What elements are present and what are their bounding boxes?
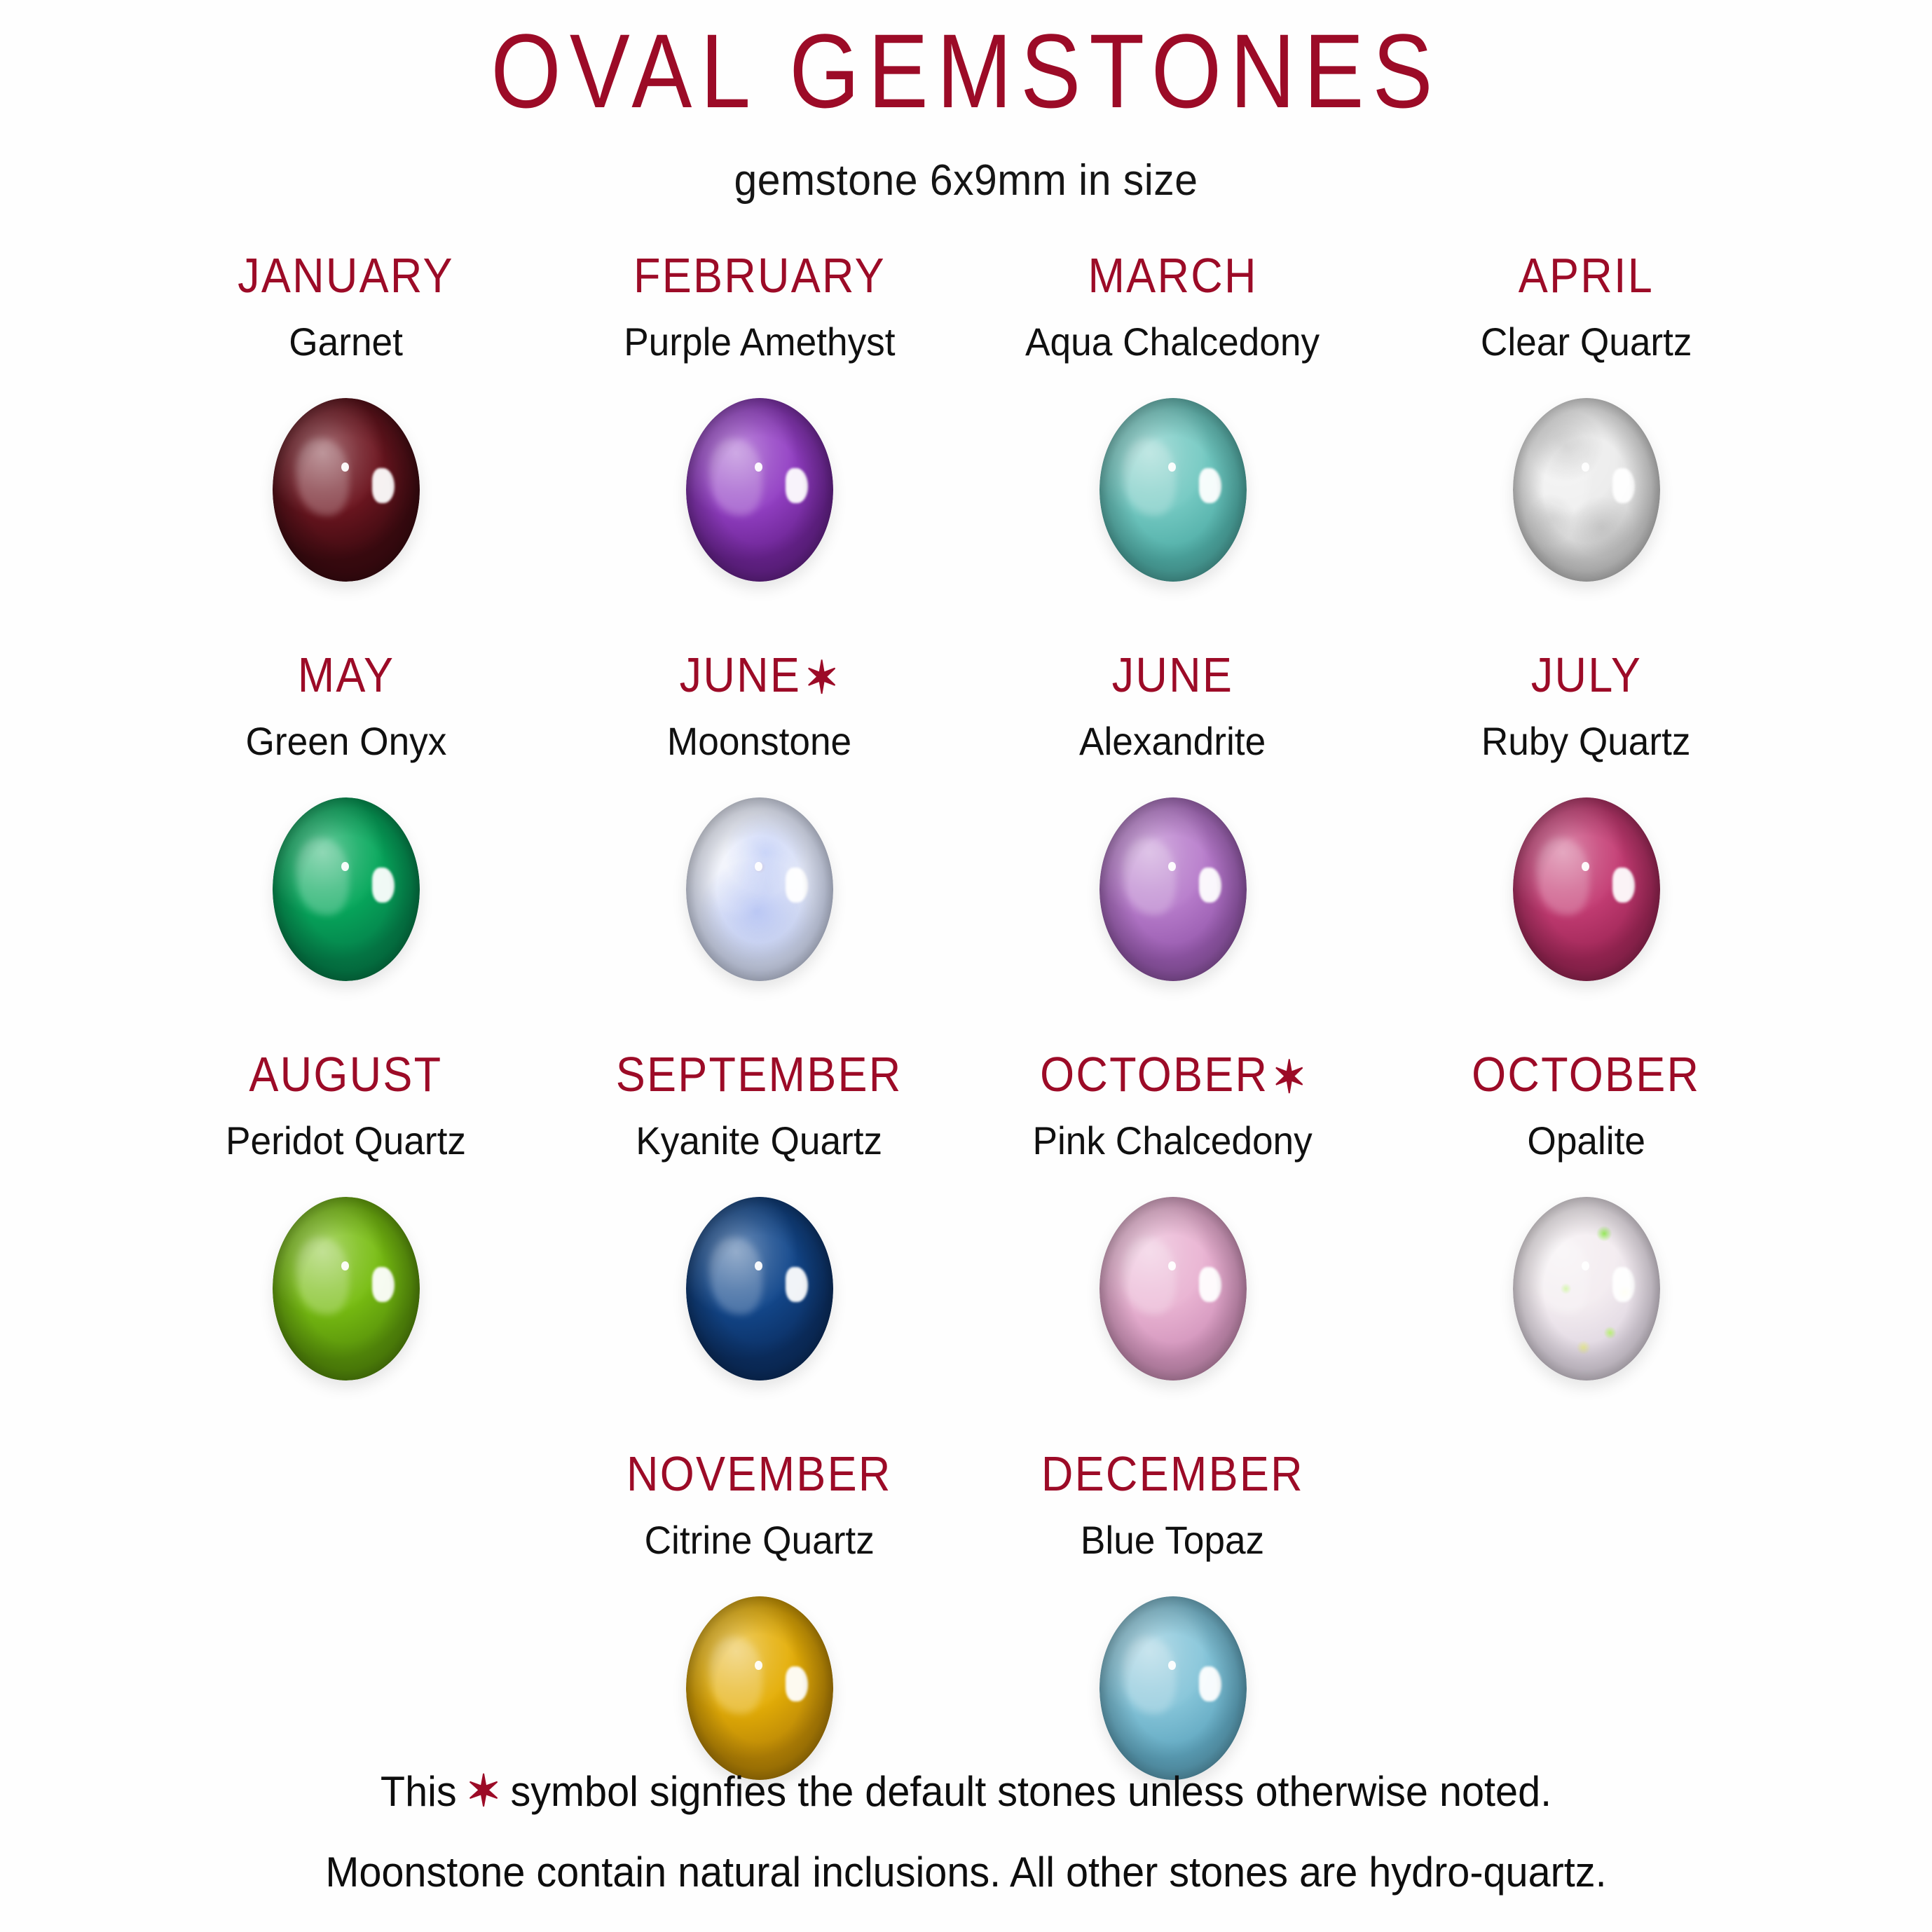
- stone-name-label: Blue Topaz: [1081, 1521, 1264, 1560]
- month-label: JANUARY: [238, 251, 454, 300]
- gem-image-wrap: [686, 398, 833, 582]
- gem-rim-layer: [686, 1197, 833, 1381]
- gem-rim-layer: [273, 1197, 420, 1381]
- stone-name-label: Purple Amethyst: [624, 322, 895, 362]
- gem-image-wrap: [1513, 797, 1660, 981]
- month-name: OCTOBER: [1040, 1047, 1268, 1102]
- purple-amethyst-gem: [686, 398, 833, 582]
- month-name: JANUARY: [238, 248, 454, 303]
- gemstone-cell[interactable]: MARCHAqua Chalcedony: [966, 251, 1380, 582]
- gemstone-cell[interactable]: JANUARYGarnet: [139, 251, 553, 582]
- gem-rim-layer: [1099, 797, 1247, 981]
- footer-line-1: This✶symbol signfies the default stones …: [39, 1767, 1893, 1816]
- footer-text-before: This: [381, 1768, 457, 1815]
- kyanite-quartz-gem: [686, 1197, 833, 1381]
- gem-rim-layer: [1099, 398, 1247, 582]
- gemstone-cell[interactable]: DECEMBERBlue Topaz: [966, 1449, 1380, 1780]
- clear-quartz-gem: [1513, 398, 1660, 582]
- stone-name-label: Clear Quartz: [1481, 322, 1692, 362]
- gemstone-row: MAYGreen OnyxJUNE✶MoonstoneJUNEAlexandri…: [0, 650, 1932, 1050]
- gem-rim-layer: [686, 1596, 833, 1780]
- stone-name-label: Citrine Quartz: [644, 1521, 874, 1560]
- stone-name-label: Alexandrite: [1079, 722, 1266, 761]
- gemstone-row: JANUARYGarnetFEBRUARYPurple AmethystMARC…: [0, 251, 1932, 650]
- month-label: DECEMBER: [1041, 1449, 1304, 1498]
- month-label: MARCH: [1088, 251, 1257, 300]
- peridot-quartz-gem: [273, 1197, 420, 1381]
- month-label: OCTOBER: [1472, 1050, 1700, 1099]
- gem-rim-layer: [1099, 1596, 1247, 1780]
- gem-rim-layer: [273, 398, 420, 582]
- month-name: MARCH: [1088, 248, 1257, 303]
- stone-name-label: Aqua Chalcedony: [1026, 322, 1320, 362]
- gem-rim-layer: [686, 398, 833, 582]
- gemstone-cell[interactable]: MAYGreen Onyx: [139, 650, 553, 981]
- stone-name-label: Peridot Quartz: [226, 1121, 466, 1160]
- page-title: OVAL GEMSTONES: [135, 18, 1797, 123]
- gem-rim-layer: [1513, 398, 1660, 582]
- gem-image-wrap: [273, 398, 420, 582]
- stone-name-label: Pink Chalcedony: [1033, 1121, 1313, 1160]
- moonstone-gem: [686, 797, 833, 981]
- gem-rim-layer: [686, 797, 833, 981]
- citrine-quartz-gem: [686, 1596, 833, 1780]
- month-name: OCTOBER: [1472, 1047, 1700, 1102]
- gem-image-wrap: [273, 797, 420, 981]
- gem-rim-layer: [1513, 1197, 1660, 1381]
- gem-image-wrap: [273, 1197, 420, 1381]
- aqua-chalcedony-gem: [1099, 398, 1247, 582]
- gemstone-chart-page: OVAL GEMSTONES gemstone 6x9mm in size JA…: [0, 0, 1932, 1932]
- month-label: JULY: [1530, 650, 1641, 699]
- stone-name-label: Opalite: [1527, 1121, 1645, 1160]
- month-name: NOVEMBER: [626, 1446, 892, 1501]
- asterisk-icon: ✶: [1272, 1052, 1306, 1102]
- gem-rim-layer: [1099, 1197, 1247, 1381]
- gem-image-wrap: [1099, 1596, 1247, 1780]
- chart-header: OVAL GEMSTONES gemstone 6x9mm in size: [0, 0, 1932, 205]
- stone-name-label: Moonstone: [667, 722, 851, 761]
- month-name: DECEMBER: [1041, 1446, 1304, 1501]
- alexandrite-gem: [1099, 797, 1247, 981]
- month-label: JUNE: [1112, 650, 1234, 699]
- gem-image-wrap: [1099, 398, 1247, 582]
- gemstone-row: NOVEMBERCitrine QuartzDECEMBERBlue Topaz: [0, 1449, 1932, 1814]
- gemstone-cell[interactable]: FEBRUARYPurple Amethyst: [553, 251, 966, 582]
- month-label: OCTOBER✶: [1040, 1050, 1306, 1099]
- month-name: FEBRUARY: [633, 248, 886, 303]
- gemstone-grid: JANUARYGarnetFEBRUARYPurple AmethystMARC…: [0, 251, 1932, 1814]
- gemstone-cell[interactable]: AUGUSTPeridot Quartz: [139, 1050, 553, 1381]
- month-label: AUGUST: [249, 1050, 442, 1099]
- stone-name-label: Green Onyx: [245, 722, 446, 761]
- gemstone-cell[interactable]: JUNE✶Moonstone: [553, 650, 966, 981]
- gem-image-wrap: [686, 797, 833, 981]
- stone-name-label: Garnet: [289, 322, 403, 362]
- opalite-gem: [1513, 1197, 1660, 1381]
- stone-name-label: Kyanite Quartz: [636, 1121, 883, 1160]
- month-name: SEPTEMBER: [616, 1047, 903, 1102]
- footer-line-2: Moonstone contain natural inclusions. Al…: [39, 1849, 1893, 1896]
- blue-topaz-gem: [1099, 1596, 1247, 1780]
- gem-rim-layer: [1513, 797, 1660, 981]
- gem-image-wrap: [1099, 1197, 1247, 1381]
- month-name: JUNE: [680, 648, 802, 702]
- month-name: JUNE: [1112, 648, 1234, 702]
- gemstone-row: AUGUSTPeridot QuartzSEPTEMBERKyanite Qua…: [0, 1050, 1932, 1449]
- gemstone-cell[interactable]: JUNEAlexandrite: [966, 650, 1380, 981]
- month-name: AUGUST: [249, 1047, 442, 1102]
- gem-image-wrap: [1513, 1197, 1660, 1381]
- gem-image-wrap: [1099, 797, 1247, 981]
- green-onyx-gem: [273, 797, 420, 981]
- gemstone-cell[interactable]: SEPTEMBERKyanite Quartz: [553, 1050, 966, 1381]
- gem-image-wrap: [686, 1197, 833, 1381]
- gem-image-wrap: [686, 1596, 833, 1780]
- garnet-gem: [273, 398, 420, 582]
- chart-footer: This✶symbol signfies the default stones …: [0, 1767, 1932, 1896]
- month-label: APRIL: [1519, 251, 1654, 300]
- month-label: MAY: [297, 650, 395, 699]
- month-name: MAY: [297, 648, 395, 702]
- month-label: FEBRUARY: [633, 251, 886, 300]
- gemstone-cell[interactable]: APRILClear Quartz: [1380, 251, 1793, 582]
- stone-name-label: Ruby Quartz: [1481, 722, 1691, 761]
- gem-rim-layer: [273, 797, 420, 981]
- gemstone-cell[interactable]: JULYRuby Quartz: [1380, 650, 1793, 981]
- gem-image-wrap: [1513, 398, 1660, 582]
- month-label: NOVEMBER: [626, 1449, 892, 1498]
- asterisk-icon: ✶: [805, 652, 839, 703]
- month-label: JUNE✶: [680, 650, 839, 699]
- gemstone-cell[interactable]: NOVEMBERCitrine Quartz: [553, 1449, 966, 1780]
- gemstone-cell[interactable]: OCTOBER✶Pink Chalcedony: [966, 1050, 1380, 1381]
- month-label: SEPTEMBER: [616, 1050, 903, 1099]
- ruby-quartz-gem: [1513, 797, 1660, 981]
- page-subtitle: gemstone 6x9mm in size: [48, 157, 1884, 205]
- pink-chalcedony-gem: [1099, 1197, 1247, 1381]
- month-name: JULY: [1530, 648, 1641, 702]
- footer-text-after: symbol signfies the default stones unles…: [510, 1768, 1551, 1815]
- month-name: APRIL: [1519, 248, 1654, 303]
- asterisk-icon: ✶: [457, 1767, 511, 1816]
- gemstone-cell[interactable]: OCTOBEROpalite: [1380, 1050, 1793, 1381]
